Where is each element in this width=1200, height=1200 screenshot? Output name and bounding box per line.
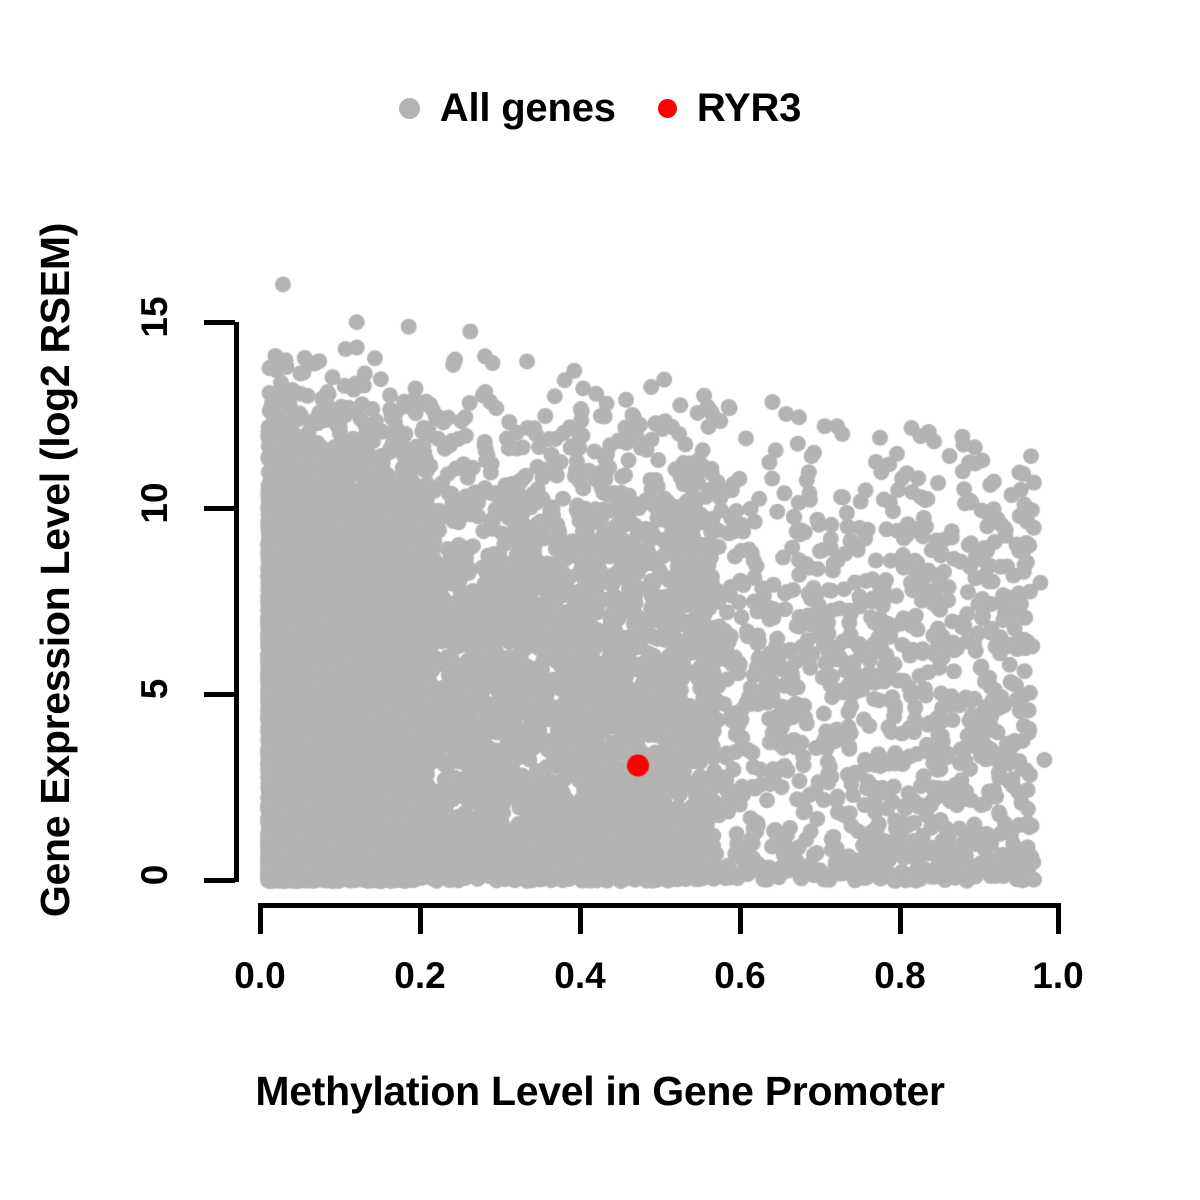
legend-label-all-genes: All genes (440, 86, 616, 131)
legend-item-ryr3: RYR3 (658, 86, 801, 131)
x-tick-label-0.2: 0.2 (360, 955, 480, 997)
y-tick-label-10: 10 (134, 473, 176, 533)
x-tick-0.4 (578, 903, 583, 934)
gray-dot-icon (399, 98, 420, 119)
x-tick-0.2 (418, 903, 423, 934)
x-tick-0.0 (258, 903, 263, 934)
red-dot-icon (658, 99, 677, 118)
y-axis-line (234, 322, 239, 882)
scatter-plot-figure: All genes RYR3 0 5 10 15 0.0 0.2 0.4 0.6… (0, 0, 1200, 1200)
x-tick-label-0.0: 0.0 (200, 955, 320, 997)
plot-area (258, 322, 1058, 881)
y-tick-0 (204, 878, 235, 883)
scatter-points-canvas (218, 202, 1098, 922)
x-tick-label-0.4: 0.4 (520, 955, 640, 997)
x-tick-0.6 (738, 903, 743, 934)
legend-item-all-genes: All genes (399, 86, 616, 131)
y-tick-label-0: 0 (134, 845, 176, 905)
y-tick-5 (204, 692, 235, 697)
x-axis-line (258, 903, 1060, 908)
legend-label-ryr3: RYR3 (697, 86, 801, 131)
x-tick-label-0.6: 0.6 (680, 955, 800, 997)
y-axis-title: Gene Expression Level (log2 RSEM) (32, 223, 79, 917)
x-tick-1.0 (1056, 903, 1061, 934)
x-axis-title: Methylation Level in Gene Promoter (0, 1068, 1200, 1115)
x-tick-0.8 (898, 903, 903, 934)
y-tick-label-5: 5 (134, 659, 176, 719)
x-tick-label-1.0: 1.0 (998, 955, 1118, 997)
y-tick-label-15: 15 (134, 287, 176, 347)
y-axis-title-wrap: Gene Expression Level (log2 RSEM) (25, 160, 85, 980)
y-tick-10 (204, 506, 235, 511)
x-tick-label-0.8: 0.8 (840, 955, 960, 997)
chart-legend: All genes RYR3 (0, 76, 1200, 140)
y-tick-15 (204, 320, 235, 325)
